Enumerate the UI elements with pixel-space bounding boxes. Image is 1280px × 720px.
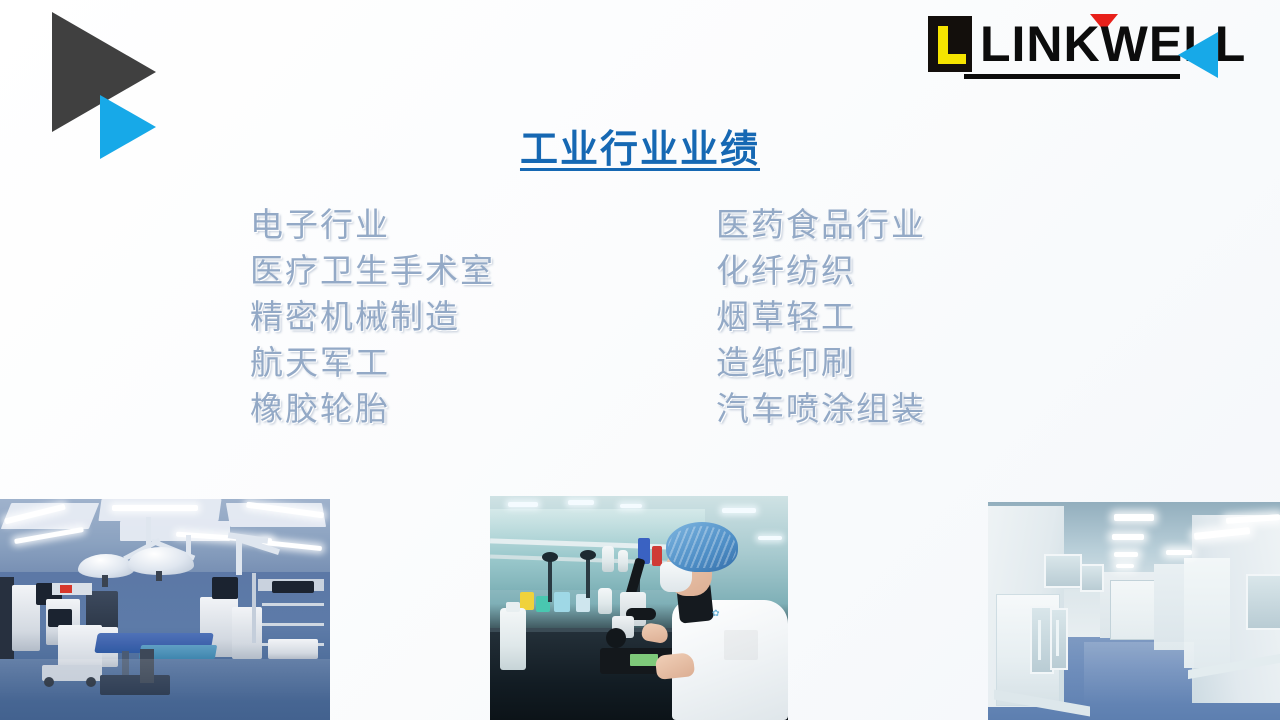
page-title: 工业行业业绩 [0,118,1280,173]
list-item: 精密机械制造 [250,295,495,341]
list-item: 化纤纺织 [716,249,926,295]
cleanroom-corridor-photo [988,502,1280,720]
list-item: 汽车喷涂组装 [716,387,926,433]
triangle-left-icon-blue [1178,32,1218,78]
list-item: 烟草轻工 [716,295,926,341]
laboratory-microscope-photo: ✿ [490,496,788,720]
slide-canvas: LINKWELL 工业行业业绩 电子行业 医疗卫生手术室 精密机械制造 航天军工… [0,0,1280,720]
linkwell-logo: LINKWELL [928,12,1238,84]
industry-list-right: 医药食品行业 化纤纺织 烟草轻工 造纸印刷 汽车喷涂组装 [716,203,926,433]
list-item: 医疗卫生手术室 [250,249,495,295]
operating-room-photo [0,499,330,720]
logo-underline-rule [964,74,1180,79]
list-item: 医药食品行业 [716,203,926,249]
logo-square-mark [928,16,972,72]
list-item: 造纸印刷 [716,341,926,387]
list-item: 航天军工 [250,341,495,387]
list-item: 电子行业 [250,203,495,249]
logo-letter-l-foot [938,54,966,64]
industry-list-left: 电子行业 医疗卫生手术室 精密机械制造 航天军工 橡胶轮胎 [250,203,495,433]
list-item: 橡胶轮胎 [250,387,495,433]
